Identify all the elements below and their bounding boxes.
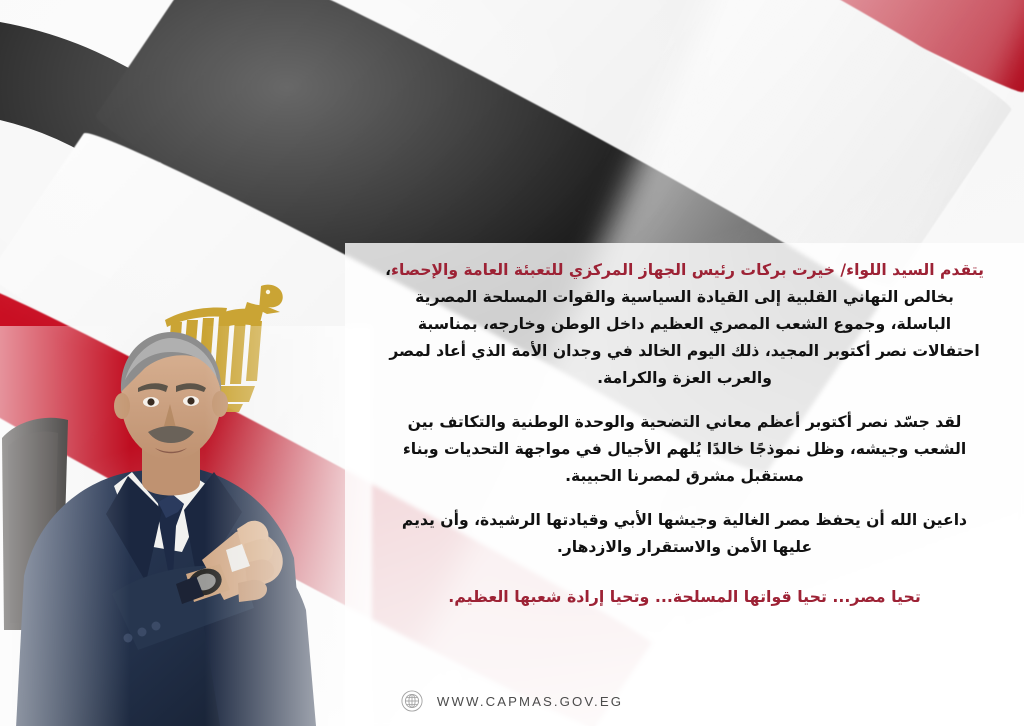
paragraph-2: لقد جسّد نصر أكتوبر أعظم معاني التضحية و…: [385, 409, 984, 490]
greeting-card: يتقدم السيد اللواء/ خيرت بركات رئيس الجه…: [0, 0, 1024, 726]
globe-icon: [401, 690, 423, 712]
paragraph-3: داعين الله أن يحفظ مصر الغالية وجيشها ال…: [385, 507, 984, 561]
message-panel: يتقدم السيد اللواء/ خيرت بركات رئيس الجه…: [345, 243, 1024, 726]
paragraph-1-rest: ، بخالص التهاني القلبية إلى القيادة السي…: [385, 261, 980, 387]
paragraph-3-text: داعين الله أن يحفظ مصر الغالية وجيشها ال…: [402, 511, 967, 556]
message-body: يتقدم السيد اللواء/ خيرت بركات رئيس الجه…: [345, 243, 1024, 726]
official-portrait: [0, 326, 372, 726]
closing-slogan: تحيا مصر... تحيا قواتها المسلحة... وتحيا…: [385, 583, 984, 610]
official-name-and-title: يتقدم السيد اللواء/ خيرت بركات رئيس الجه…: [391, 261, 984, 279]
footer: WWW.CAPMAS.GOV.EG: [0, 690, 1024, 712]
paragraph-1: يتقدم السيد اللواء/ خيرت بركات رئيس الجه…: [385, 257, 984, 392]
paragraph-2-text: لقد جسّد نصر أكتوبر أعظم معاني التضحية و…: [403, 413, 966, 485]
website-url[interactable]: WWW.CAPMAS.GOV.EG: [437, 694, 623, 709]
